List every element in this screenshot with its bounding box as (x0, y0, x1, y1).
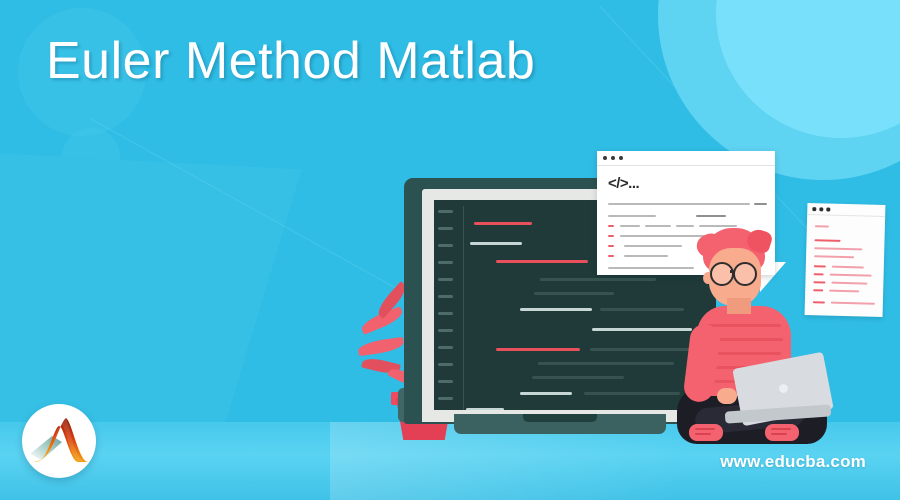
banner-canvas: Euler Method Matlab (0, 0, 900, 500)
matlab-logo (22, 404, 96, 478)
person-shoe-left (689, 424, 723, 441)
person-neck (727, 298, 751, 314)
window-dot-icon (819, 207, 823, 211)
window-dot-icon (603, 156, 607, 160)
window-titlebar (597, 151, 775, 166)
seated-developer (655, 228, 835, 448)
window-dot-icon (611, 156, 615, 160)
site-watermark: www.educba.com (720, 452, 866, 472)
line-number-gutter (434, 200, 458, 410)
code-tag-icon: </>... (608, 175, 639, 192)
page-title: Euler Method Matlab (46, 34, 535, 89)
window-dot-icon (812, 207, 816, 211)
person-shoe-right (765, 424, 799, 441)
person-hand (717, 388, 737, 404)
small-window-titlebar (807, 203, 885, 217)
window-dot-icon (619, 156, 623, 160)
laptop-logo-icon (779, 384, 788, 393)
editor-divider (463, 206, 464, 410)
glasses-bridge-icon (730, 270, 735, 273)
glasses-icon (710, 262, 734, 286)
glasses-icon (733, 262, 757, 286)
monitor-notch (523, 414, 597, 422)
window-dot-icon (826, 207, 830, 211)
